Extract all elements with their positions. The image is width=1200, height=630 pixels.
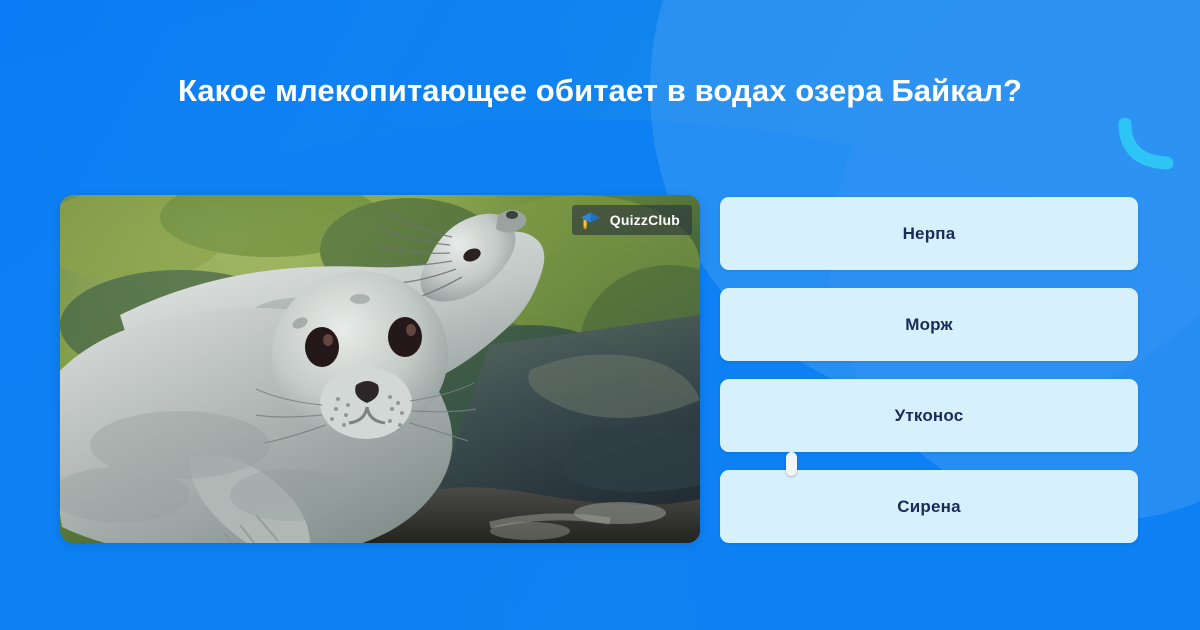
brand-badge: QuizzClub	[572, 205, 692, 235]
quiz-card-canvas: Какое млекопитающее обитает в водах озер…	[0, 0, 1200, 630]
seal-photo	[60, 195, 700, 543]
brand-name: QuizzClub	[610, 212, 680, 228]
question-title: Какое млекопитающее обитает в водах озер…	[0, 72, 1200, 109]
answer-option-2[interactable]: Морж	[720, 288, 1138, 361]
scroll-handle[interactable]	[786, 452, 797, 476]
answer-option-2-label: Морж	[905, 315, 953, 335]
answer-option-4-label: Сирена	[897, 497, 961, 517]
question-image-card: QuizzClub	[60, 195, 700, 543]
graduation-cap-icon	[579, 210, 601, 230]
answer-option-1[interactable]: Нерпа	[720, 197, 1138, 270]
answer-option-4[interactable]: Сирена	[720, 470, 1138, 543]
answer-option-3[interactable]: Утконос	[720, 379, 1138, 452]
answer-option-3-label: Утконос	[895, 406, 964, 426]
cyan-arc-icon	[1117, 118, 1175, 172]
answer-options-list: Нерпа Морж Утконос Сирена	[720, 197, 1138, 543]
answer-option-1-label: Нерпа	[903, 224, 956, 244]
